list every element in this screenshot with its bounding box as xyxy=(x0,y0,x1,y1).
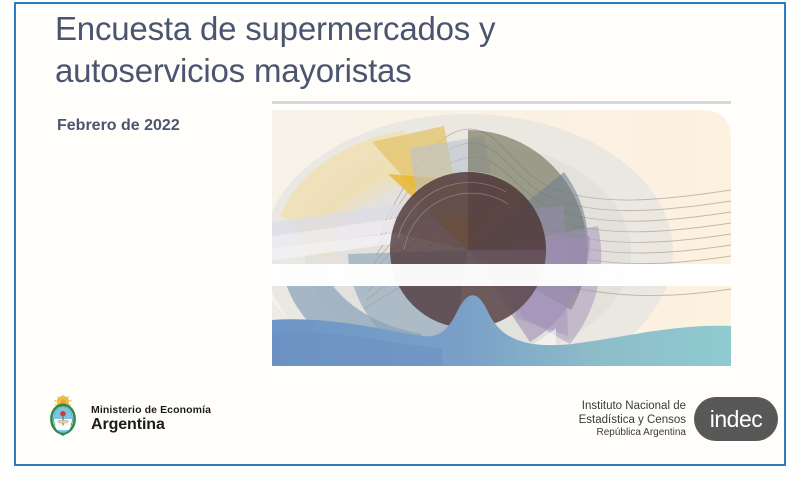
indec-logo: Instituto Nacional de Estadística y Cens… xyxy=(548,393,778,445)
indec-wordmark: indec xyxy=(710,406,762,433)
government-logo-text: Ministerio de Economía Argentina xyxy=(91,405,211,434)
government-logo: Ministerio de Economía Argentina xyxy=(44,394,276,444)
argentina-coat-of-arms-icon xyxy=(44,394,82,445)
indec-wordmark-pill: indec xyxy=(694,397,778,441)
cover-graphic-svg xyxy=(272,104,731,372)
page-title-line-1: Encuesta de supermercados y xyxy=(55,8,655,50)
page-title-line-2: autoservicios mayoristas xyxy=(55,50,655,92)
cover-graphic xyxy=(272,104,731,372)
indec-line-3: República Argentina xyxy=(579,427,686,439)
indec-logo-text: Instituto Nacional de Estadística y Cens… xyxy=(579,399,686,439)
page-title: Encuesta de supermercados y autoservicio… xyxy=(55,8,655,92)
indec-line-1: Instituto Nacional de xyxy=(579,399,686,413)
indec-line-2: Estadística y Censos xyxy=(579,413,686,427)
publication-date: Febrero de 2022 xyxy=(57,117,180,135)
ministry-label: Ministerio de Economía xyxy=(91,405,211,416)
country-label: Argentina xyxy=(91,416,211,433)
cover-page: Encuesta de supermercados y autoservicio… xyxy=(0,0,800,479)
